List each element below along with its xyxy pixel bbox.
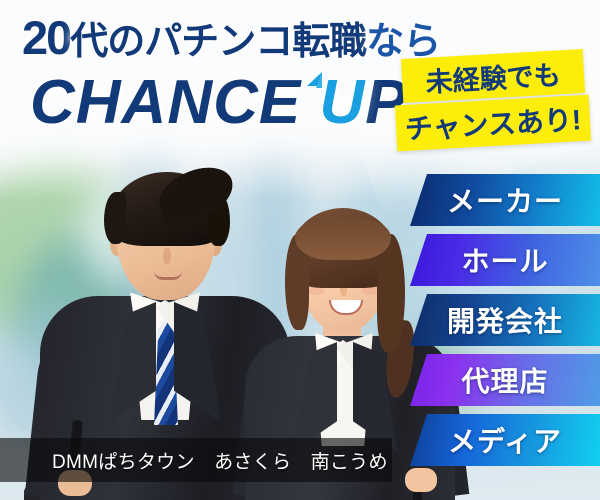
badge-line-2-text: チャンスあり! [404,98,582,148]
chance-up-logo: CHANCE UP [30,72,408,134]
badge-line-1-text: 未経験でも [425,53,562,99]
badge-line-1: 未経験でも [401,49,585,103]
category-button-label: メディア [448,420,562,460]
headline-number: 20 [22,11,70,64]
logo-chance-text: CHANCE [30,68,319,137]
male-hair-side-left [104,192,126,244]
category-button-label: メーカー [447,180,563,220]
category-button-agency[interactable]: 代理店 [410,354,600,406]
category-button-maker[interactable]: メーカー [410,174,600,226]
credits-strip: DMMぱちタウン あさくら 南こうめ [0,438,392,482]
badge-line-2: チャンスあり! [395,95,591,152]
category-button-label: 開発会社 [447,300,563,340]
category-button-hall[interactable]: ホール [410,234,600,286]
headline-main-text: 代のパチンコ転職 [70,21,366,63]
credits-text: DMMぱちタウン あさくら 南こうめ [52,447,388,474]
male-nose [163,248,171,264]
promotional-banner: 20代のパチンコ転職なら CHANCE UP 未経験でも チャンスあり! メーカ… [0,0,600,500]
category-button-developer[interactable]: 開発会社 [410,294,600,346]
category-button-label: ホール [461,240,548,280]
category-button-media[interactable]: メディア [410,414,600,466]
category-button-label: 代理店 [461,360,548,400]
female-bangs [295,218,391,260]
category-button-list: メーカー ホール 開発会社 代理店 メディア [410,174,600,474]
logo-u-letter: U [319,68,365,137]
banner-headline: 20代のパチンコ転職なら [22,14,440,61]
experience-badge: 未経験でも チャンスあり! [396,52,592,152]
